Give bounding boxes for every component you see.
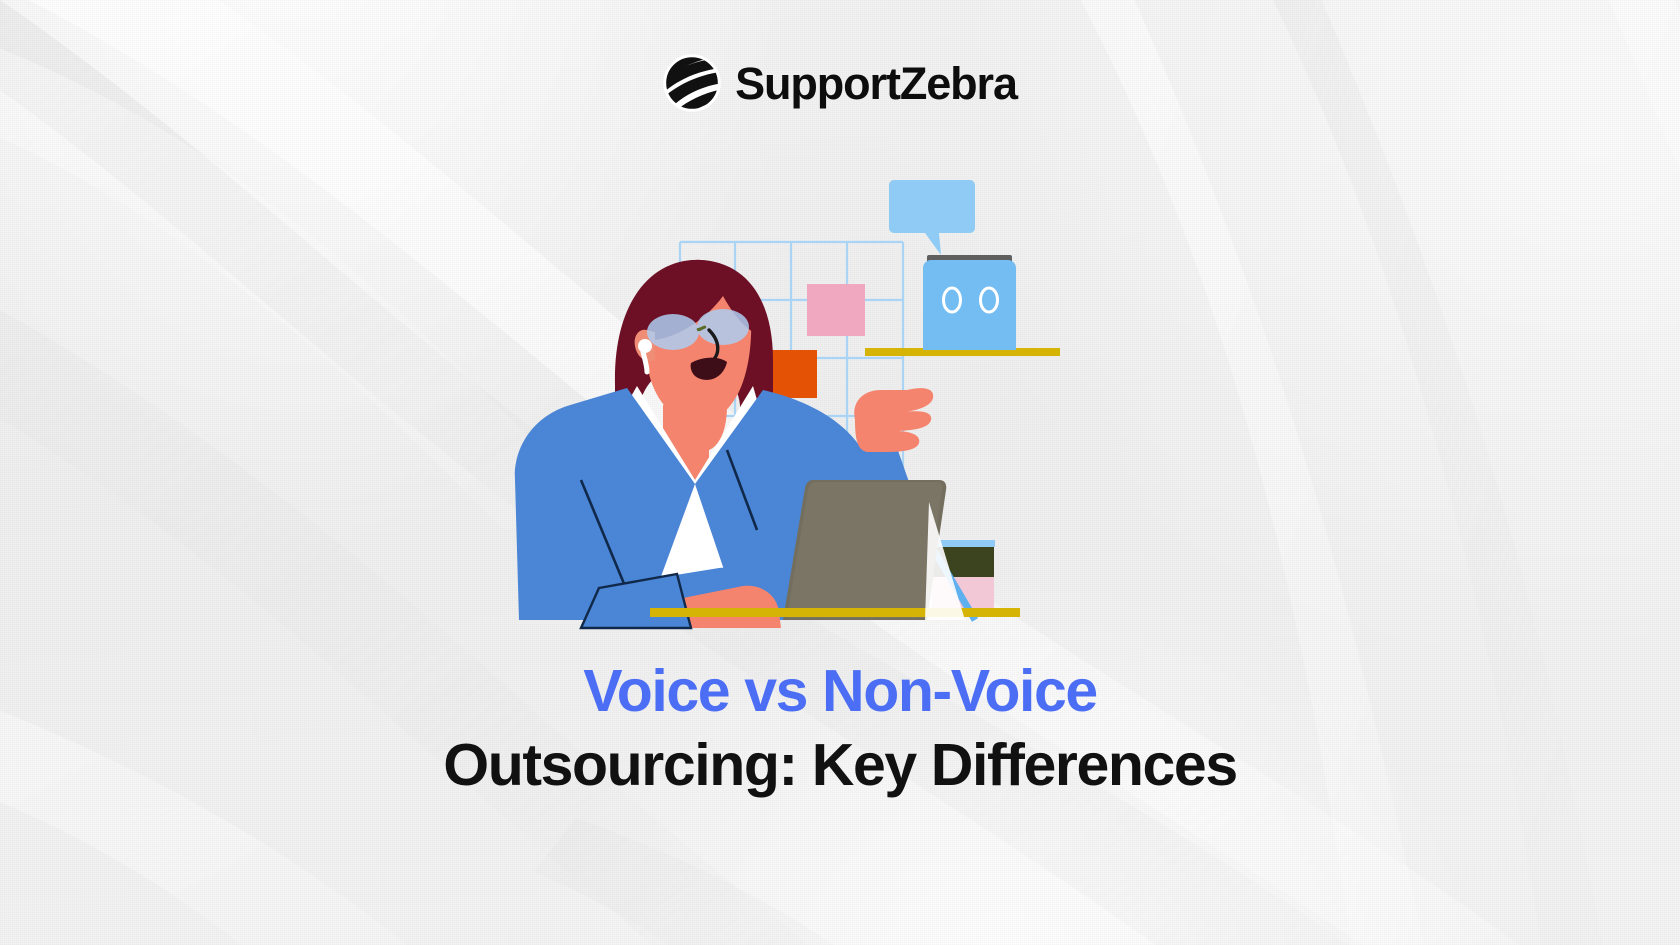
brand-logo: SupportZebra: [0, 54, 1680, 112]
social-card-canvas: SupportZebra: [0, 0, 1680, 945]
headline-line-1: Voice vs Non-Voice: [0, 660, 1680, 724]
pink-square-icon: [807, 284, 865, 336]
orange-square-icon: [767, 350, 817, 398]
raised-hand-icon: [854, 388, 933, 452]
chatbot-robot-icon: [923, 255, 1016, 350]
zebra-sphere-icon: [663, 54, 721, 112]
desk-bar: [650, 608, 1020, 617]
headline-line-2: Outsourcing: Key Differences: [0, 734, 1680, 798]
laptop-icon: [783, 480, 946, 620]
brand-name: SupportZebra: [735, 61, 1017, 106]
headline: Voice vs Non-Voice Outsourcing: Key Diff…: [0, 660, 1680, 797]
hero-illustration: [495, 150, 1095, 640]
